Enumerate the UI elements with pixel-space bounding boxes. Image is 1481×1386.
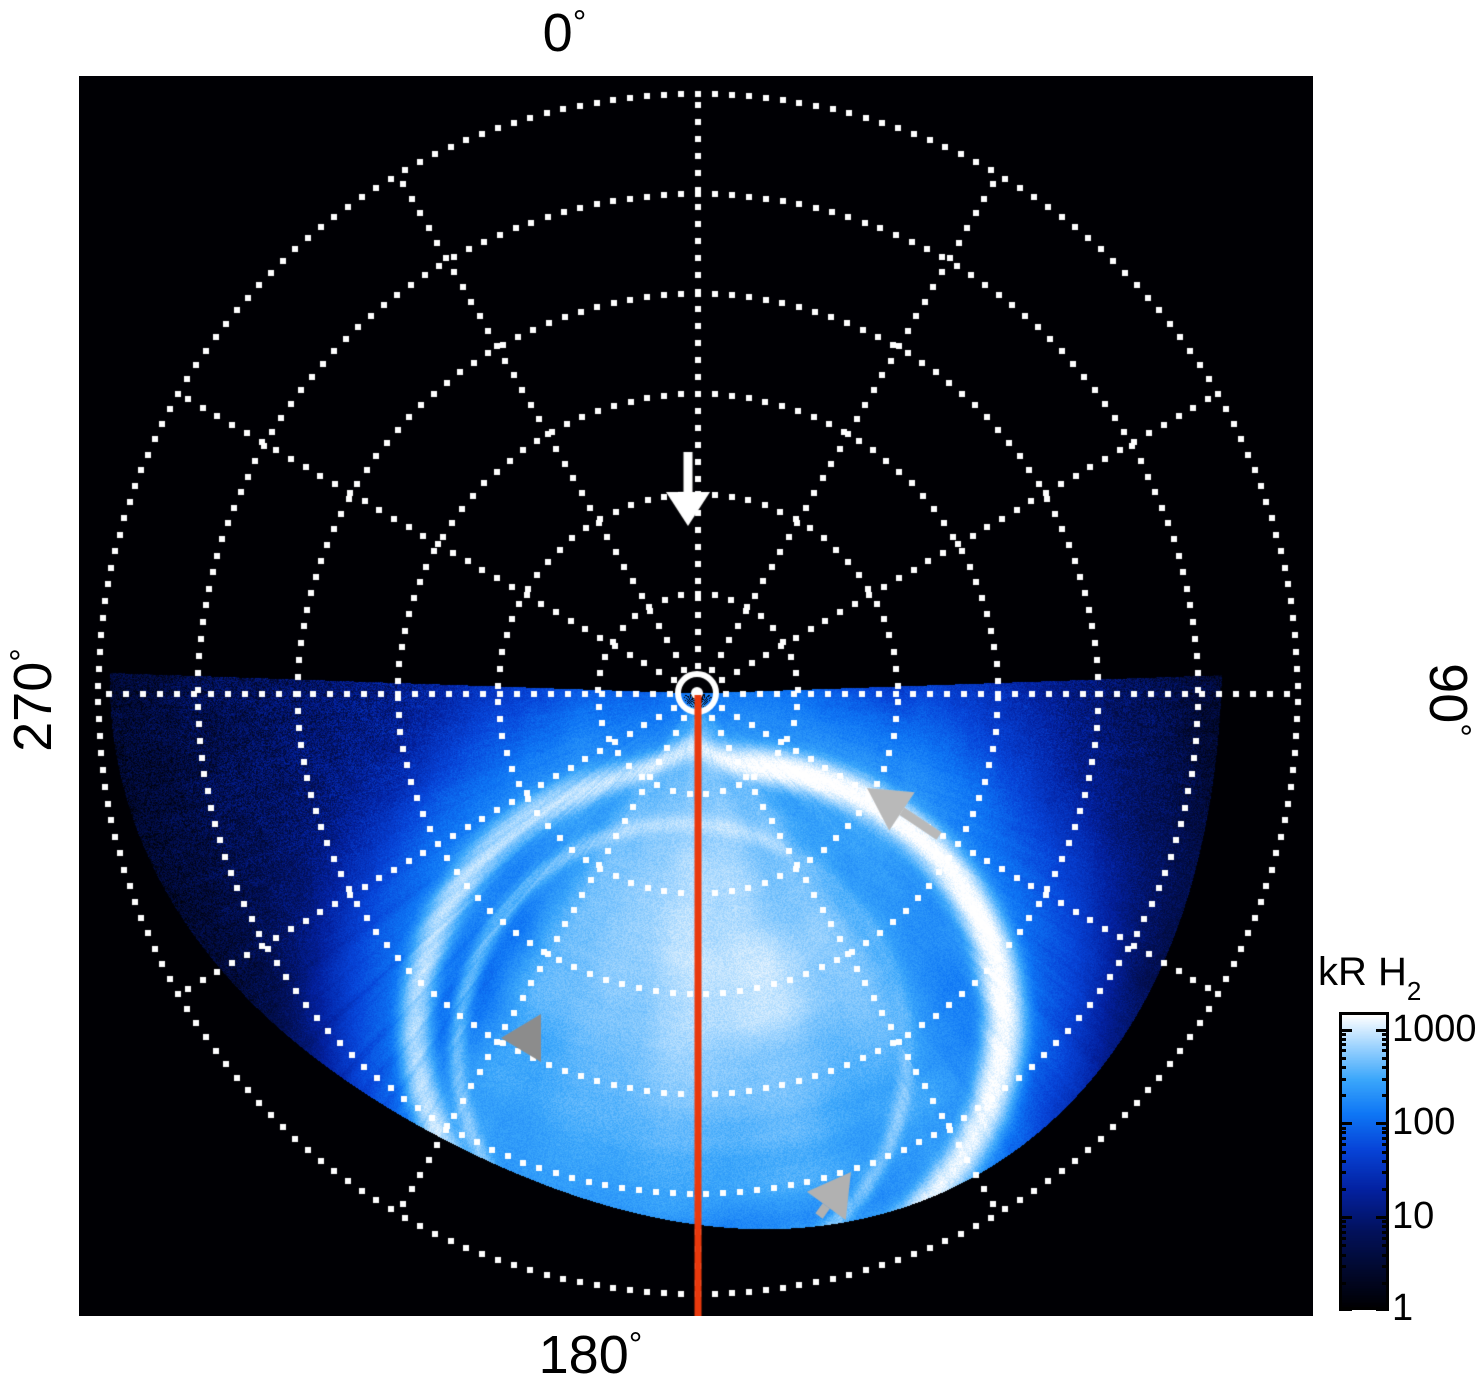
colorbar-minor-tick xyxy=(1339,1225,1346,1228)
colorbar-minor-tick xyxy=(1382,1094,1389,1097)
colorbar-ticks xyxy=(1339,1012,1389,1310)
colorbar-minor-tick xyxy=(1382,1282,1389,1285)
colorbar-minor-tick xyxy=(1339,1131,1346,1134)
figure-stage: 0° 180° 270° 90° kR H2 1101001000 xyxy=(0,0,1481,1386)
colorbar-tick-label: 10 xyxy=(1392,1197,1434,1235)
colorbar-minor-tick xyxy=(1339,1057,1346,1060)
colorbar-minor-tick xyxy=(1382,1038,1389,1041)
colorbar-minor-tick xyxy=(1382,1049,1389,1052)
colorbar-minor-tick xyxy=(1382,1160,1389,1163)
colorbar-minor-tick xyxy=(1339,1231,1346,1234)
colorbar-minor-tick xyxy=(1382,1254,1389,1257)
colorbar-minor-tick xyxy=(1382,1188,1389,1191)
colorbar-minor-tick xyxy=(1382,1225,1389,1228)
colorbar-minor-tick xyxy=(1339,1143,1346,1146)
colorbar-minor-tick xyxy=(1339,1244,1346,1247)
colorbar-minor-tick xyxy=(1339,1254,1346,1257)
colorbar-major-tick xyxy=(1376,1308,1389,1311)
colorbar-minor-tick xyxy=(1339,1151,1346,1154)
colorbar-minor-tick xyxy=(1339,1078,1346,1081)
colorbar-minor-tick xyxy=(1382,1043,1389,1046)
colorbar-minor-tick xyxy=(1339,1188,1346,1191)
colorbar-minor-tick xyxy=(1382,1265,1389,1268)
colorbar-minor-tick xyxy=(1339,1038,1346,1041)
colorbar-minor-tick xyxy=(1339,1160,1346,1163)
colorbar-minor-tick xyxy=(1382,1237,1389,1240)
colorbar-minor-tick xyxy=(1382,1127,1389,1130)
colorbar-tick-labels: 1101001000 xyxy=(1392,1012,1481,1310)
colorbar-minor-tick xyxy=(1339,1171,1346,1174)
colorbar-minor-tick xyxy=(1382,1244,1389,1247)
colorbar-major-tick xyxy=(1339,1216,1352,1219)
colorbar-minor-tick xyxy=(1382,1171,1389,1174)
colorbar-major-tick xyxy=(1339,1029,1352,1032)
colorbar-major-tick xyxy=(1376,1122,1389,1125)
colorbar-minor-tick xyxy=(1339,1033,1346,1036)
colorbar-minor-tick xyxy=(1339,1066,1346,1069)
colorbar-minor-tick xyxy=(1382,1231,1389,1234)
colorbar-minor-tick xyxy=(1382,1137,1389,1140)
colorbar-minor-tick xyxy=(1382,1151,1389,1154)
colorbar-minor-tick xyxy=(1339,1265,1346,1268)
colorbar-major-tick xyxy=(1376,1216,1389,1219)
colorbar-minor-tick xyxy=(1339,1043,1346,1046)
colorbar-major-tick xyxy=(1339,1122,1352,1125)
polar-plot-panel xyxy=(79,76,1313,1316)
colorbar-minor-tick xyxy=(1382,1033,1389,1036)
colorbar-minor-tick xyxy=(1339,1127,1346,1130)
colorbar-major-tick xyxy=(1376,1029,1389,1032)
colorbar-minor-tick xyxy=(1382,1131,1389,1134)
axis-label-0deg: 0° xyxy=(0,4,1481,60)
colorbar-tick-label: 1 xyxy=(1392,1289,1413,1327)
annotation-overlay xyxy=(79,76,1313,1316)
colorbar-minor-tick xyxy=(1382,1057,1389,1060)
colorbar-minor-tick xyxy=(1339,1094,1346,1097)
axis-label-270deg: 270° xyxy=(4,590,60,810)
colorbar-minor-tick xyxy=(1339,1282,1346,1285)
axis-label-90deg: 90° xyxy=(1421,590,1477,810)
colorbar: kR H2 1101001000 xyxy=(1318,950,1481,1330)
colorbar-minor-tick xyxy=(1339,1137,1346,1140)
colorbar-minor-tick xyxy=(1382,1078,1389,1081)
colorbar-minor-tick xyxy=(1382,1066,1389,1069)
colorbar-minor-tick xyxy=(1382,1143,1389,1146)
colorbar-title: kR H2 xyxy=(1318,950,1421,1001)
colorbar-minor-tick xyxy=(1382,1220,1389,1223)
colorbar-tick-label: 1000 xyxy=(1392,1010,1477,1048)
colorbar-minor-tick xyxy=(1339,1220,1346,1223)
colorbar-tick-label: 100 xyxy=(1392,1103,1455,1141)
colorbar-major-tick xyxy=(1339,1308,1352,1311)
colorbar-minor-tick xyxy=(1339,1049,1346,1052)
axis-label-180deg: 180° xyxy=(0,1326,1481,1382)
colorbar-minor-tick xyxy=(1339,1237,1346,1240)
